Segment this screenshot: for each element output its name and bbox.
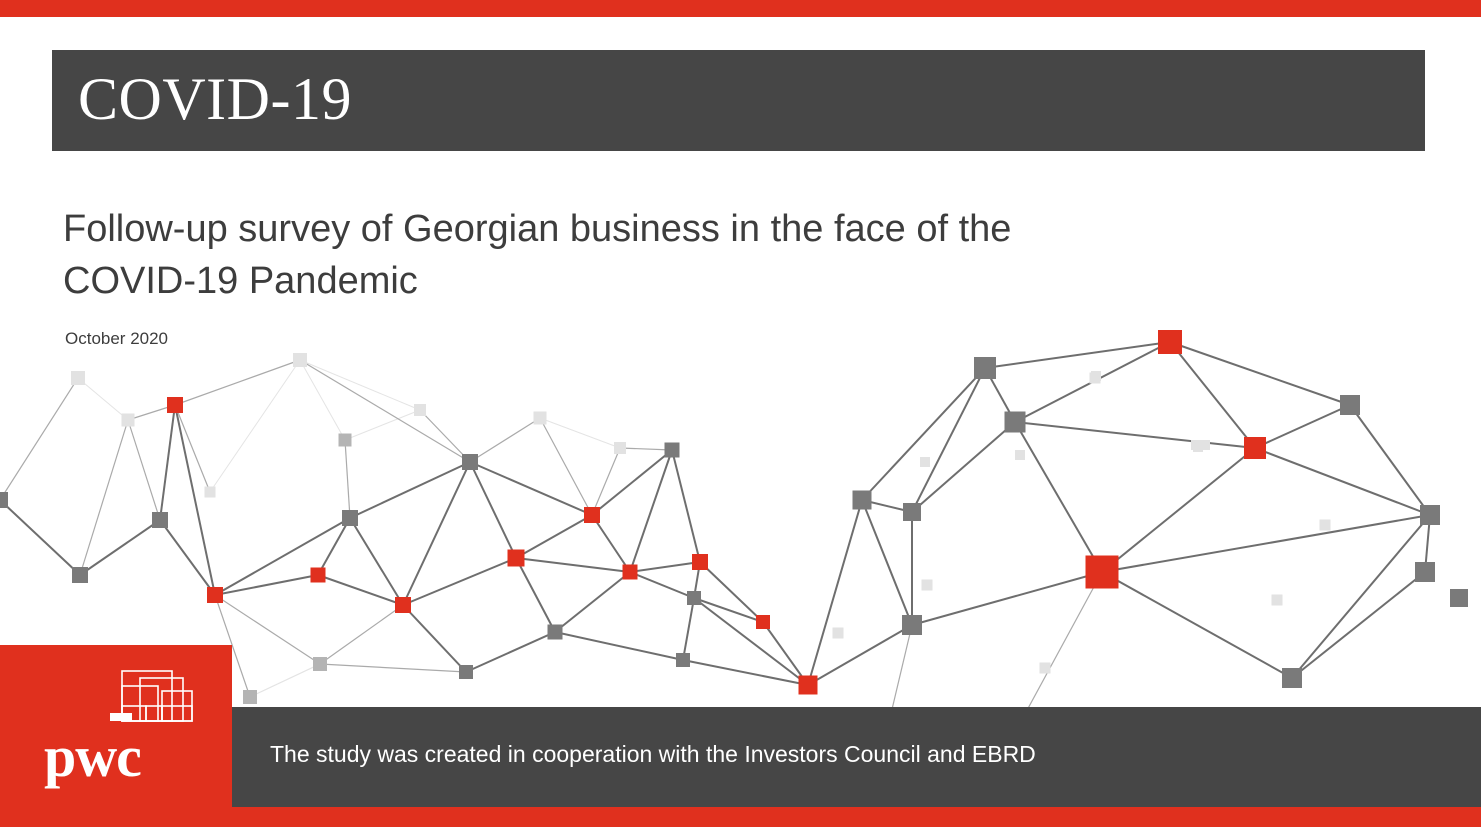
slide-root: COVID-19 Follow-up survey of Georgian bu… (0, 0, 1481, 827)
footer-note: The study was created in cooperation wit… (270, 741, 1036, 768)
date-label: October 2020 (65, 329, 168, 349)
page-title: COVID-19 (78, 59, 352, 139)
pwc-geometric-mark-icon (110, 666, 210, 728)
subtitle: Follow-up survey of Georgian business in… (63, 203, 1143, 307)
top-accent-bar (0, 0, 1481, 17)
bottom-accent-bar (0, 807, 1481, 827)
pwc-wordmark: pwc (44, 727, 141, 787)
